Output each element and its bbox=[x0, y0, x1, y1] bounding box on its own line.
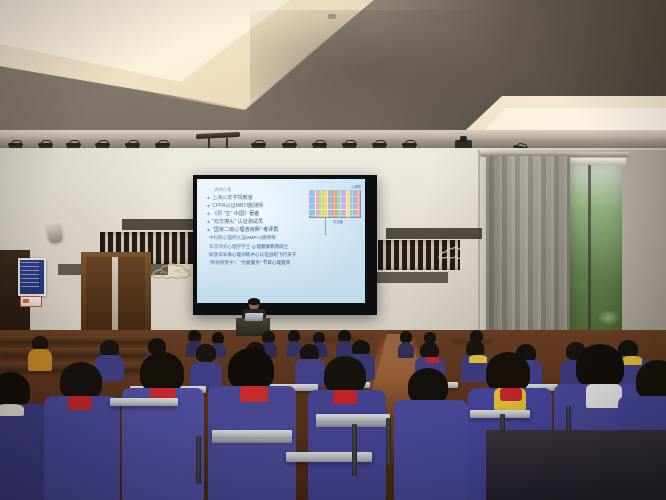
bullet-icon: ◆ bbox=[207, 219, 210, 225]
slide-bullet: ◆上海公安学院教官 bbox=[207, 195, 357, 201]
slide-line: "和你到梦乡"、"为爱服务" 节目心理嘉宾 bbox=[207, 260, 357, 266]
rear-seating-right bbox=[486, 430, 666, 500]
desk-leg bbox=[386, 418, 391, 464]
wooden-bench-row bbox=[0, 336, 150, 343]
slide-line: 华东师大心理学学士 心理健康教育硕士 bbox=[207, 244, 357, 250]
bullet-icon: ◆ bbox=[207, 203, 210, 209]
wall-sign bbox=[20, 296, 42, 307]
meander-border bbox=[386, 228, 482, 239]
student-desk bbox=[110, 398, 178, 406]
notice-board-text bbox=[21, 262, 39, 288]
presenter-laptop bbox=[245, 313, 264, 321]
wooden-bench-row bbox=[300, 334, 360, 340]
auspicious-cloud-motif bbox=[148, 262, 194, 282]
bullet-icon: ◆ bbox=[207, 227, 210, 233]
student-desk bbox=[316, 414, 390, 423]
student-desk bbox=[212, 430, 292, 439]
slide-bullet: ◆"国家二级心理咨询师" 考评员 bbox=[207, 227, 357, 233]
bullet-icon: ◆ bbox=[207, 195, 210, 201]
bullet-icon: ◆ bbox=[207, 211, 210, 217]
slide-line: 解放军军事心理训练中心认证战机飞行员干 bbox=[207, 252, 357, 258]
student-desk-edge bbox=[212, 439, 292, 443]
desk-leg bbox=[352, 424, 357, 476]
door-mullion bbox=[112, 257, 118, 333]
meander-border bbox=[372, 272, 448, 283]
auditorium-door[interactable] bbox=[117, 257, 145, 333]
slide-bullet: ◆"双方擦火" 认证测试员 bbox=[207, 219, 357, 225]
slide-bullet: ◆《原 "生" 中国》著者 bbox=[207, 211, 357, 217]
slide-bullet-list: ◆上海公安学院教官 ◆CPPA认证MBTI施测师 ◆《原 "生" 中国》著者 ◆… bbox=[207, 195, 357, 268]
hanging-speaker-bracket bbox=[460, 136, 467, 142]
desk-leg bbox=[196, 436, 201, 484]
auditorium-door[interactable] bbox=[86, 257, 114, 333]
slide-title: 讲师介绍 bbox=[214, 187, 232, 193]
projection-screen: 讲师介绍 中文版 心理学 ◆上海公安学院教官 ◆CPPA认证MBTI施测师 ◆《… bbox=[197, 179, 365, 303]
ceiling-vent bbox=[360, 72, 371, 76]
slide-line: 中科院心理所认证MMPI-2测评师 bbox=[207, 235, 357, 241]
slide-corner-logo: 心理学 bbox=[351, 184, 361, 189]
auspicious-cloud-motif bbox=[436, 246, 470, 262]
wall-speaker bbox=[47, 224, 63, 244]
auditorium-photo: 讲师介绍 中文版 心理学 ◆上海公安学院教官 ◆CPPA认证MBTI施测师 ◆《… bbox=[0, 0, 666, 500]
slide-bullet: ◆CPPA认证MBTI施测师 bbox=[207, 203, 357, 209]
wooden-bench-row bbox=[0, 348, 168, 356]
student-desk bbox=[286, 452, 372, 462]
ceiling-vent bbox=[328, 14, 336, 19]
